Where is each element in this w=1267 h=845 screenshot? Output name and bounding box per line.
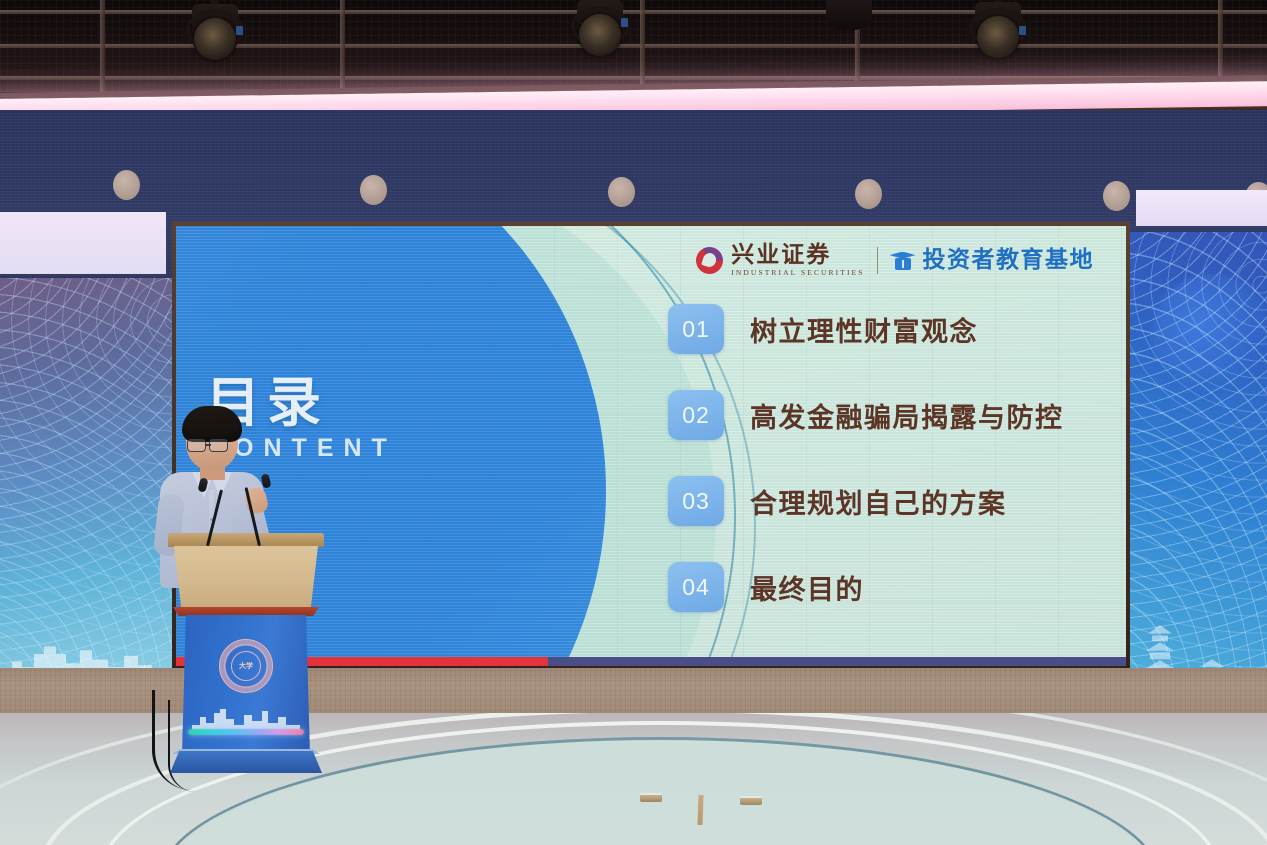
agenda-item[interactable]: 01 树立理性财富观念 (668, 304, 1064, 354)
logo-primary-cn: 兴业证券 (731, 244, 864, 267)
slide-logo-lockup: 兴业证券 INDUSTRIAL SECURITIES 投资者教育基地 (696, 244, 1094, 277)
logo-divider (877, 247, 878, 274)
podium-front-panel (174, 546, 318, 608)
agenda-number: 04 (682, 574, 710, 601)
podium-rainbow-band (188, 729, 304, 735)
truss-post (340, 0, 345, 92)
agenda-label: 最终目的 (750, 568, 864, 607)
seal-text: 大学 (231, 651, 261, 681)
slide-stripe-navy (548, 657, 1126, 666)
podium: 大学 (168, 533, 324, 778)
eyeglasses-icon (187, 439, 206, 452)
podium-column: 大学 (182, 615, 310, 755)
stage-spotlight-icon (577, 0, 623, 52)
right-upper-panel (1136, 190, 1267, 226)
agenda-item[interactable]: 02 高发金融骗局揭露与防控 (668, 390, 1064, 440)
stage-spotlight-icon (192, 4, 238, 56)
agenda-label: 合理规划自己的方案 (750, 482, 1007, 521)
wall-disc (855, 179, 882, 209)
agenda-badge: 02 (668, 390, 724, 440)
agenda-label: 高发金融骗局揭露与防控 (750, 396, 1064, 435)
agenda-item[interactable]: 04 最终目的 (668, 562, 1064, 612)
right-led-panel (1130, 232, 1267, 684)
truss-post (100, 0, 105, 92)
graduation-cap-icon (890, 251, 916, 271)
agenda-list: 01 树立理性财富观念 02 高发金融骗局揭露与防控 03 合理规划自己的方案 (668, 304, 1064, 612)
university-seal-icon: 大学 (219, 639, 273, 693)
podium-desktop (168, 533, 324, 547)
agenda-number: 01 (682, 316, 710, 343)
eyeglasses-icon (209, 439, 228, 452)
stage-spotlight-icon (826, 0, 872, 30)
podium-base (170, 751, 322, 773)
wall-disc (1103, 181, 1130, 211)
agenda-badge: 04 (668, 562, 724, 612)
logo-secondary-cn: 投资者教育基地 (923, 249, 1095, 272)
truss-post (640, 0, 645, 92)
left-upper-panel (0, 212, 166, 274)
wall-disc (113, 170, 140, 200)
stage-scene: 兴业证券 INDUSTRIAL SECURITIES 投资者教育基地 目录 CO… (0, 0, 1267, 845)
wall-disc (608, 177, 635, 207)
agenda-badge: 01 (668, 304, 724, 354)
truss-rail (0, 10, 1267, 14)
agenda-item[interactable]: 03 合理规划自己的方案 (668, 476, 1064, 526)
agenda-badge: 03 (668, 476, 724, 526)
swirl-logo-icon (696, 247, 723, 274)
left-led-panel (0, 278, 172, 682)
podium-skyline-graphic (192, 705, 300, 731)
logo-primary-en: INDUSTRIAL SECURITIES (731, 268, 864, 277)
stage-spotlight-icon (975, 2, 1021, 54)
podium-red-trim (173, 607, 319, 616)
agenda-number: 02 (682, 402, 710, 429)
truss-rail (0, 44, 1267, 48)
agenda-number: 03 (682, 488, 710, 515)
wall-disc (360, 175, 387, 205)
agenda-label: 树立理性财富观念 (750, 310, 978, 349)
